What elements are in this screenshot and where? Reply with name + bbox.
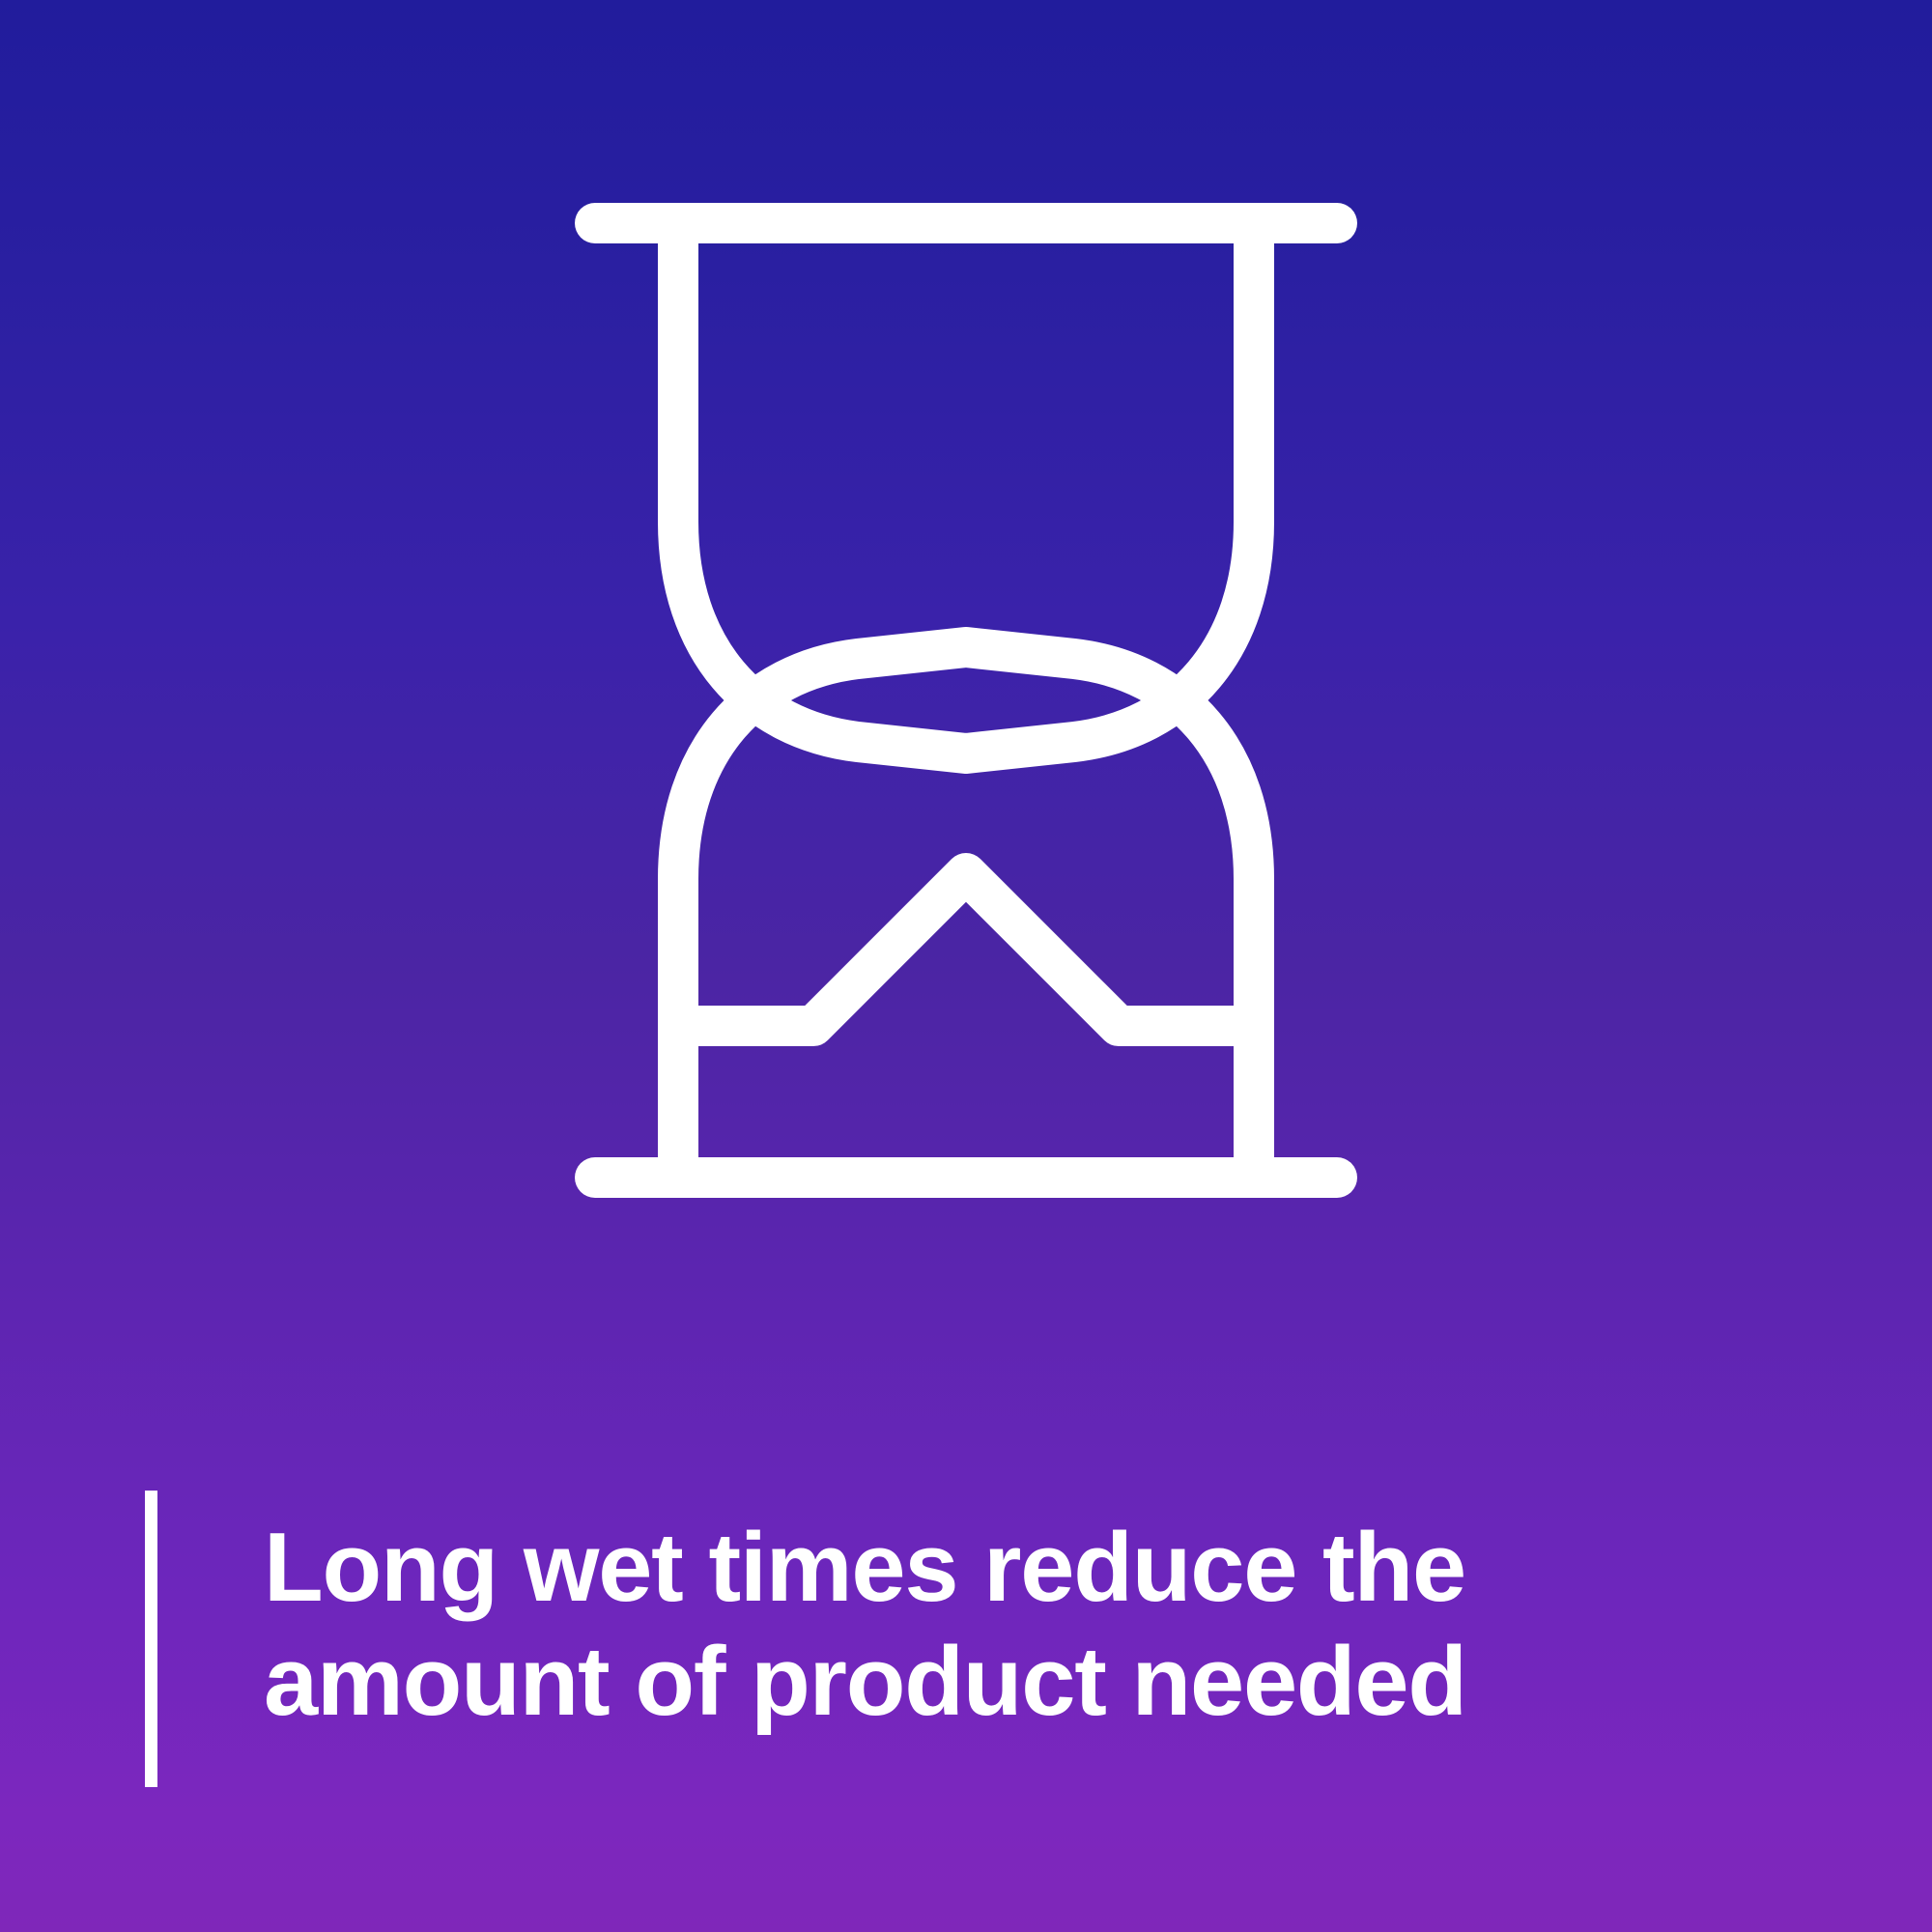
hourglass-upper-bulb bbox=[678, 223, 1254, 753]
caption-line-2: amount of product needed bbox=[264, 1625, 1466, 1739]
accent-rule bbox=[145, 1491, 157, 1787]
hourglass-sand-mound bbox=[678, 873, 1254, 1026]
caption-text: Long wet times reduce the amount of prod… bbox=[264, 1511, 1466, 1739]
caption-line-1: Long wet times reduce the bbox=[264, 1511, 1466, 1625]
infographic-card: Long wet times reduce the amount of prod… bbox=[0, 0, 1932, 1932]
hourglass-icon bbox=[570, 203, 1362, 1198]
hourglass-icon-container bbox=[0, 0, 1932, 1401]
hourglass-lower-bulb bbox=[678, 647, 1254, 1178]
caption-block: Long wet times reduce the amount of prod… bbox=[145, 1491, 1466, 1787]
